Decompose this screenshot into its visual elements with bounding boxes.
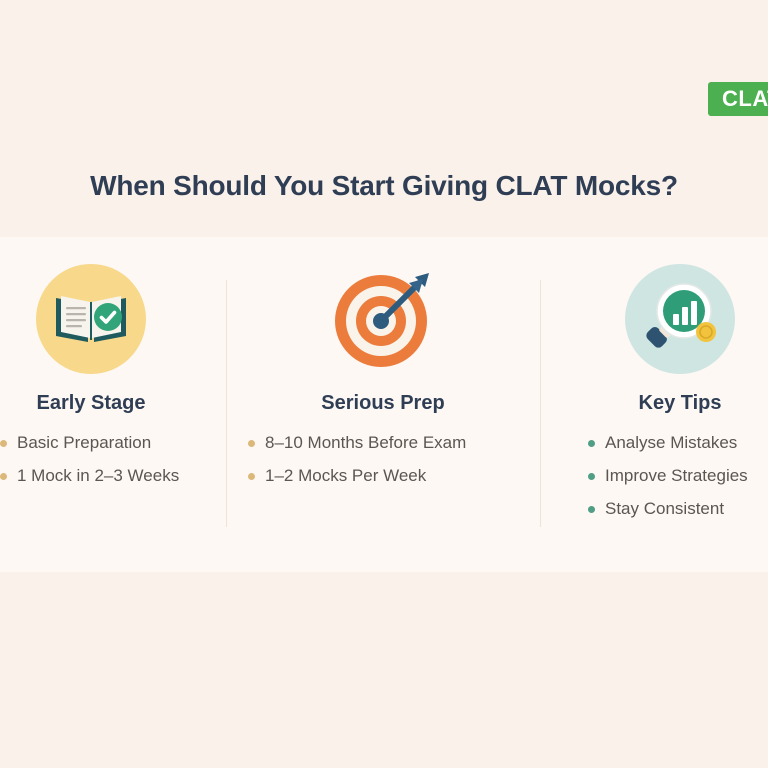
info-panel: Early Stage Basic Preparation 1 Mock in …: [0, 237, 768, 572]
open-book-check-icon: [36, 264, 146, 374]
column-early-stage: Early Stage Basic Preparation 1 Mock in …: [0, 237, 226, 572]
bullet-label: Analyse Mistakes: [605, 433, 737, 453]
list-item: 8–10 Months Before Exam: [248, 433, 540, 453]
bullet-dot-icon: [248, 440, 255, 447]
list-item: Basic Preparation: [0, 433, 226, 453]
clat-badge: CLAT: [708, 82, 768, 116]
page-title: When Should You Start Giving CLAT Mocks?: [0, 170, 768, 202]
bullet-dot-icon: [0, 473, 7, 480]
key-tips-bullets: Analyse Mistakes Improve Strategies Stay…: [588, 433, 768, 519]
list-item: 1–2 Mocks Per Week: [248, 466, 540, 486]
bullet-label: Improve Strategies: [605, 466, 748, 486]
bullet-dot-icon: [588, 506, 595, 513]
bullet-label: Basic Preparation: [17, 433, 151, 453]
target-arrow-icon: [328, 264, 438, 374]
list-item: Improve Strategies: [588, 466, 768, 486]
serious-prep-bullets: 8–10 Months Before Exam 1–2 Mocks Per We…: [248, 433, 540, 486]
bullet-dot-icon: [588, 473, 595, 480]
columns-container: Early Stage Basic Preparation 1 Mock in …: [0, 237, 768, 572]
bullet-label: 1–2 Mocks Per Week: [265, 466, 426, 486]
column-serious-prep: Serious Prep 8–10 Months Before Exam 1–2…: [226, 237, 540, 572]
bullet-dot-icon: [588, 440, 595, 447]
bullet-label: 8–10 Months Before Exam: [265, 433, 466, 453]
serious-prep-heading: Serious Prep: [226, 392, 540, 415]
serious-prep-icon-wrap: [226, 264, 540, 374]
early-stage-heading: Early Stage: [0, 392, 226, 415]
key-tips-icon-wrap: [592, 264, 768, 374]
magnifier-bar-chart-icon: [625, 264, 735, 374]
early-stage-icon-wrap: [0, 264, 226, 374]
bullet-dot-icon: [0, 440, 7, 447]
key-tips-heading: Key Tips: [592, 392, 768, 415]
column-key-tips: Key Tips Analyse Mistakes Improve Strate…: [540, 237, 768, 572]
list-item: 1 Mock in 2–3 Weeks: [0, 466, 226, 486]
bullet-dot-icon: [248, 473, 255, 480]
clat-badge-label: CLAT: [722, 88, 768, 110]
bullet-label: 1 Mock in 2–3 Weeks: [17, 466, 179, 486]
list-item: Stay Consistent: [588, 499, 768, 519]
bullet-label: Stay Consistent: [605, 499, 724, 519]
list-item: Analyse Mistakes: [588, 433, 768, 453]
early-stage-bullets: Basic Preparation 1 Mock in 2–3 Weeks: [0, 433, 226, 486]
